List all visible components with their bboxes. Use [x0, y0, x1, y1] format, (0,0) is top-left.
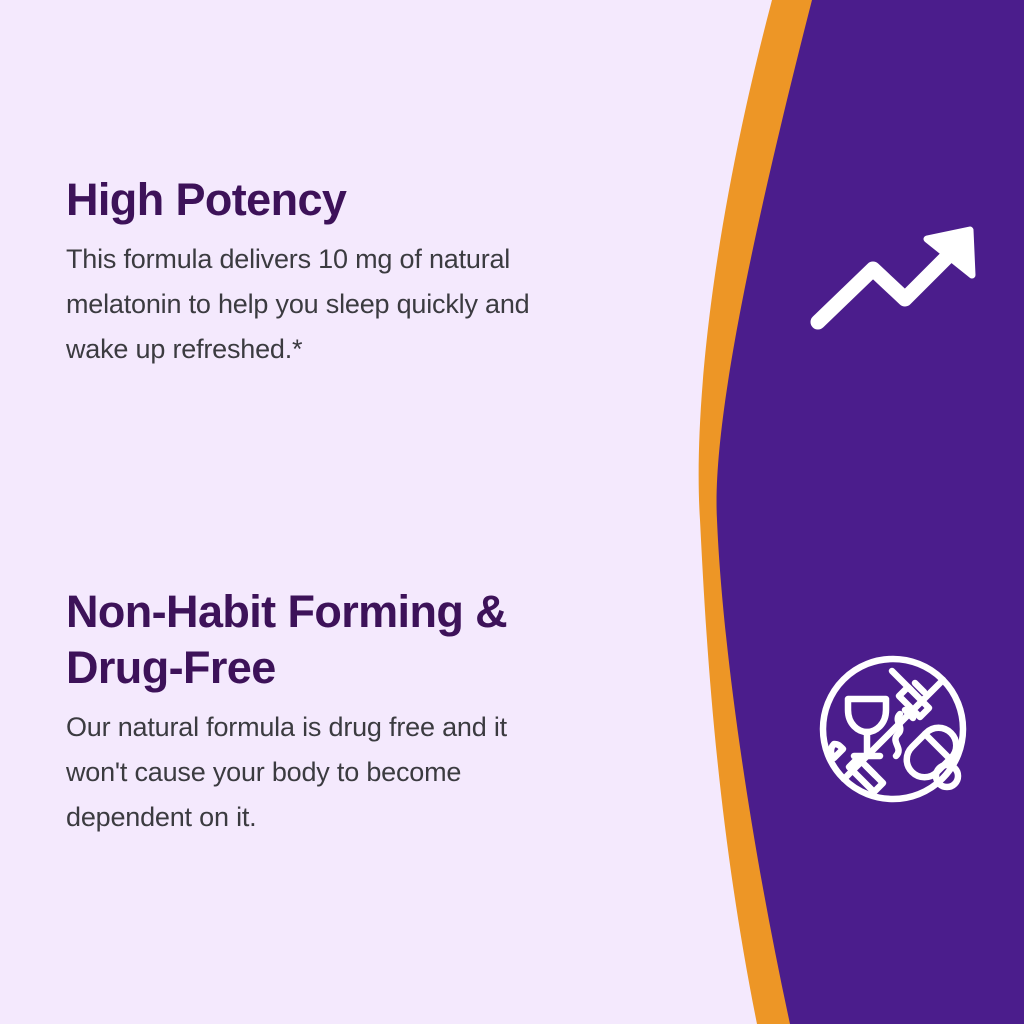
cigarette-filter-line — [866, 766, 875, 775]
purple-panel-shape — [717, 0, 1024, 1024]
feature-body-non-habit-forming: Our natural formula is drug free and it … — [66, 696, 656, 840]
feature-block-high-potency: High Potency This formula delivers 10 mg… — [66, 172, 656, 372]
trending-up-arrow-glyph — [800, 218, 990, 342]
feature-body-high-potency: This formula delivers 10 mg of natural m… — [66, 228, 656, 372]
feature-heading-high-potency: High Potency — [66, 172, 656, 228]
no-drugs-icon — [812, 648, 974, 810]
benefits-text-column: High Potency This formula delivers 10 mg… — [0, 0, 690, 1024]
cigarette-smoke-wisp — [895, 714, 900, 756]
feature-heading-non-habit-forming: Non-Habit Forming & Drug-Free — [66, 584, 656, 696]
trending-up-arrow-icon — [800, 218, 990, 342]
syringe-plunger-top — [915, 683, 924, 692]
wine-glass-bowl — [848, 699, 886, 732]
no-drugs-glyph — [812, 648, 974, 810]
capsule-pill-seam — [925, 734, 950, 759]
product-benefits-infographic: High Potency This formula delivers 10 mg… — [0, 0, 1024, 1024]
feature-block-non-habit-forming: Non-Habit Forming & Drug-Free Our natura… — [66, 584, 656, 840]
orange-accent-arc — [699, 0, 1024, 1024]
pill-fragment — [831, 744, 843, 758]
